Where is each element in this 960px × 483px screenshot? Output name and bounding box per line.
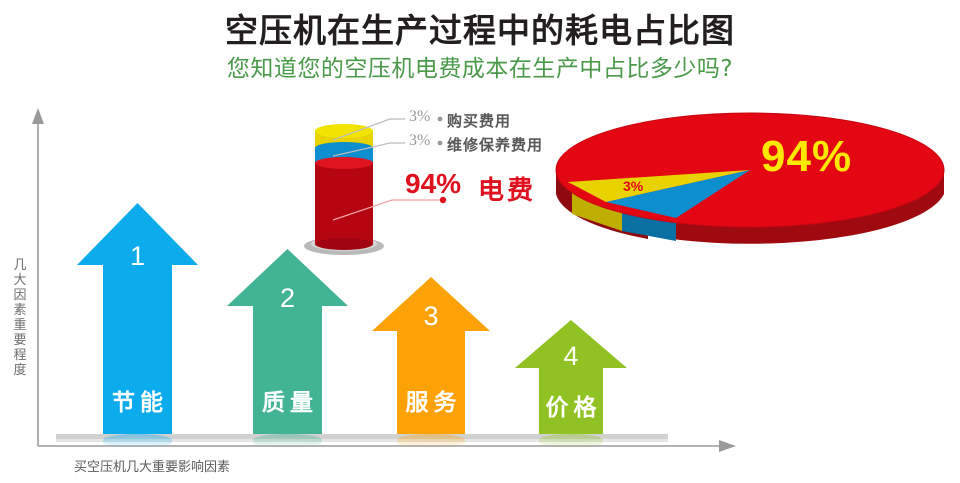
pie-value-purchase: 3%: [588, 165, 605, 179]
callout-power-pct: 94%: [405, 168, 461, 200]
callout-purchase-label: 购买费用: [447, 110, 511, 131]
pie-chart[interactable]: 94% 3% 3%: [548, 110, 952, 260]
infographic-canvas: 空压机在生产过程中的耗电占比图 您知道您的空压机电费成本在生产中占比多少吗? 几…: [0, 0, 960, 483]
callout-maintenance-pct: 3%: [409, 132, 430, 150]
pie-value-power: 94%: [761, 132, 852, 182]
callout-purchase-pct: 3%: [409, 108, 430, 126]
callout-maintenance-label: 维修保养费用: [447, 134, 543, 155]
pie-graphic: [548, 110, 952, 260]
pie-value-maintenance: 3%: [623, 178, 643, 194]
callout-power-label: 电费: [478, 170, 536, 207]
